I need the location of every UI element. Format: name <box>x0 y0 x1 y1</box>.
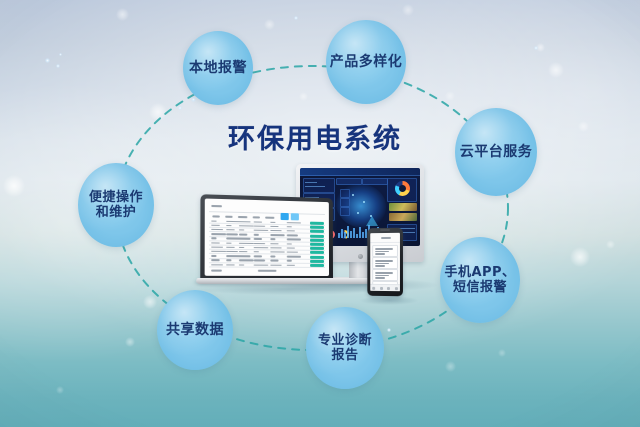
background-vignette <box>0 0 640 427</box>
poster-canvas: 本地报警产品多样化云平台服务手机APP、短信报警专业诊断报告共享数据便捷操作和维… <box>0 0 640 427</box>
